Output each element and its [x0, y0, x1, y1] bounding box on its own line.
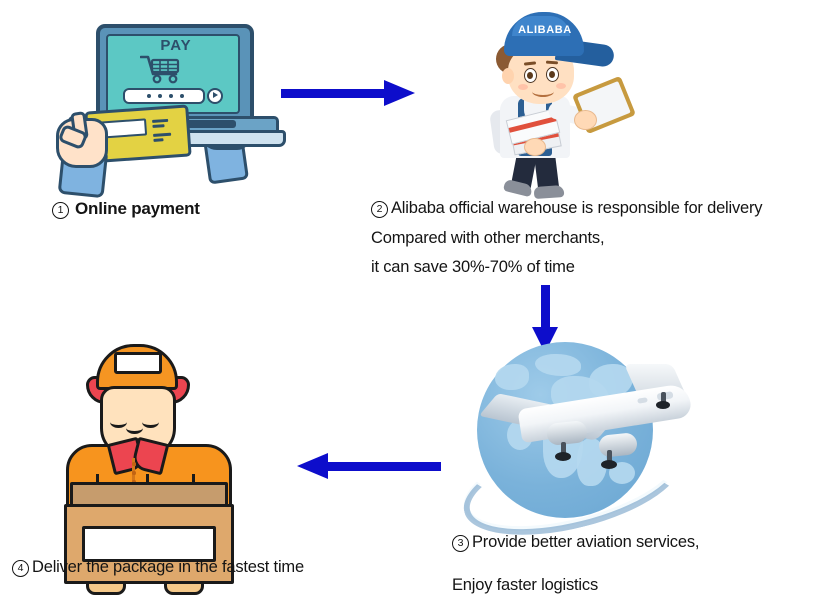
eye-right	[546, 67, 559, 82]
arrow-1-shaft	[281, 89, 386, 98]
password-dot	[180, 94, 184, 98]
step-number-2: 2	[371, 201, 388, 218]
caption-step-2-line-3: it can save 30%-70% of time	[371, 252, 575, 282]
airplane-icon	[455, 338, 705, 528]
parcel-tape	[509, 116, 557, 132]
illustration-globe-airplane	[455, 338, 705, 528]
ear	[502, 68, 514, 84]
caption-step-2-line-2: Compared with other merchants,	[371, 223, 604, 253]
plane-engine-left	[546, 420, 588, 446]
illustration-alibaba-deliveryman: ALIBABA	[470, 6, 645, 191]
cap-brand-text: ALIBABA	[508, 24, 582, 36]
caption-step-3-line-1: 3Provide better aviation services,	[452, 527, 699, 557]
caption-step-3-text: Provide better aviation services,	[472, 533, 699, 551]
arrow-1-head	[384, 80, 415, 106]
arrow-3-shaft	[328, 462, 441, 471]
shirt-button	[132, 462, 136, 466]
caption-step-2-text: Alibaba official warehouse is responsibl…	[391, 199, 762, 217]
illustration-courier-with-box	[52, 340, 242, 555]
caption-step-1: 1Online payment	[52, 194, 200, 224]
password-dot	[169, 94, 173, 98]
plane-fuselage	[517, 383, 692, 443]
hand-holding-parcels	[524, 138, 546, 156]
screen-pay-label: PAY	[146, 37, 206, 54]
infographic-canvas: PAY	[0, 0, 820, 609]
eye-left	[524, 68, 537, 83]
step-number-4: 4	[12, 560, 29, 577]
caption-step-3-line-2: Enjoy faster logistics	[452, 570, 598, 600]
caption-step-4-text: Deliver the package in the fastest time	[32, 558, 304, 576]
caption-step-1-text: Online payment	[75, 199, 200, 218]
shirt-button	[132, 471, 136, 475]
mouth-smile	[532, 86, 554, 97]
arrow-2-shaft	[541, 285, 550, 329]
courier-mouth	[126, 422, 143, 434]
courier-eye-left	[110, 416, 127, 428]
password-input[interactable]	[123, 88, 205, 104]
landing-gear-wheel-2	[601, 460, 617, 469]
orange-cap-label	[114, 352, 162, 374]
play-button-icon[interactable]	[207, 88, 223, 104]
step-number-1: 1	[52, 202, 69, 219]
caption-step-2-line-1: 2Alibaba official warehouse is responsib…	[371, 193, 762, 223]
hand-holding-clipboard	[574, 110, 597, 130]
courier-eye-right	[142, 416, 159, 428]
arrow-3-head	[297, 453, 328, 479]
step-number-3: 3	[452, 535, 469, 552]
password-dot	[147, 94, 151, 98]
illustration-online-payment: PAY	[38, 8, 263, 188]
cheek-left	[518, 84, 528, 90]
caption-step-4: 4Deliver the package in the fastest time	[12, 552, 304, 582]
nose-gear-wheel	[656, 401, 670, 409]
cheek-right	[556, 83, 566, 89]
password-dot	[158, 94, 162, 98]
plane-engine-right	[598, 432, 638, 458]
shopping-cart-icon	[140, 54, 184, 84]
landing-gear-wheel-1	[555, 452, 571, 461]
